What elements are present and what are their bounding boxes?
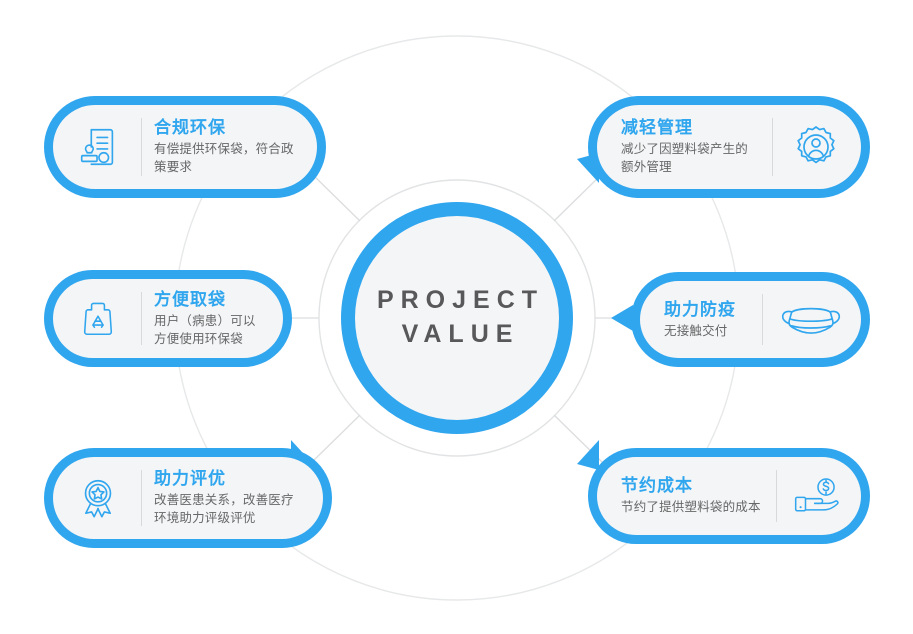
card-cost[interactable]: 节约成本 节约了提供塑料袋的成本 [588,448,870,544]
tail-epidemic [611,305,633,331]
project-value-diagram: PROJECT VALUE 合规环保 有偿提供环保袋，符 [0,0,913,634]
card-epidemic-title: 助力防疫 [664,299,750,320]
center-title-line1: PROJECT [370,284,544,318]
card-divider [141,470,142,526]
card-rating-title: 助力评优 [154,468,301,489]
card-compliance-text: 合规环保 有偿提供环保袋，符合政策要求 [154,117,295,177]
card-divider [762,294,763,345]
card-convenience[interactable]: 方便取袋 用户（病患）可以方便使用环保袋 [44,270,292,367]
center-hub: PROJECT VALUE [341,202,573,434]
card-epidemic-desc: 无接触交付 [664,323,750,341]
card-rating-inner: 助力评优 改善医患关系，改善医疗环境助力评级评优 [53,457,323,539]
document-stamp-icon [67,116,129,178]
card-compliance-desc: 有偿提供环保袋，符合政策要求 [154,141,295,177]
card-management-inner: 减轻管理 减少了因塑料袋产生的额外管理 [597,105,861,189]
center-title-line2: VALUE [395,318,520,352]
tail-cost [577,440,599,470]
gear-person-icon [785,116,847,178]
medal-star-icon [67,467,129,529]
card-convenience-title: 方便取袋 [154,289,261,310]
spoke-compliance [312,174,360,221]
card-cost-inner: 节约成本 节约了提供塑料袋的成本 [597,457,861,535]
card-rating-desc: 改善医患关系，改善医疗环境助力评级评优 [154,492,301,528]
card-rating-text: 助力评优 改善医患关系，改善医疗环境助力评级评优 [154,468,301,528]
recycle-bag-icon [67,288,129,350]
card-management-desc: 减少了因塑料袋产生的额外管理 [621,141,760,177]
hand-money-icon [789,465,847,527]
card-cost-title: 节约成本 [621,475,764,496]
card-divider [772,118,773,176]
card-convenience-inner: 方便取袋 用户（病患）可以方便使用环保袋 [53,279,283,358]
spoke-rating [312,415,360,462]
card-management[interactable]: 减轻管理 减少了因塑料袋产生的额外管理 [588,96,870,198]
card-epidemic-inner: 助力防疫 无接触交付 [640,281,861,358]
card-cost-desc: 节约了提供塑料袋的成本 [621,499,764,517]
card-compliance-inner: 合规环保 有偿提供环保袋，符合政策要求 [53,105,317,189]
face-mask-icon [775,289,847,351]
card-divider [141,118,142,176]
card-epidemic[interactable]: 助力防疫 无接触交付 [631,272,870,367]
card-divider [776,470,777,522]
card-management-title: 减轻管理 [621,117,760,138]
card-rating[interactable]: 助力评优 改善医患关系，改善医疗环境助力评级评优 [44,448,332,548]
card-convenience-desc: 用户（病患）可以方便使用环保袋 [154,313,261,349]
card-compliance-title: 合规环保 [154,117,295,138]
card-convenience-text: 方便取袋 用户（病患）可以方便使用环保袋 [154,289,261,349]
card-epidemic-text: 助力防疫 无接触交付 [662,299,750,341]
card-compliance[interactable]: 合规环保 有偿提供环保袋，符合政策要求 [44,96,326,198]
card-cost-text: 节约成本 节约了提供塑料袋的成本 [619,475,764,517]
card-management-text: 减轻管理 减少了因塑料袋产生的额外管理 [619,117,760,177]
card-divider [141,292,142,345]
